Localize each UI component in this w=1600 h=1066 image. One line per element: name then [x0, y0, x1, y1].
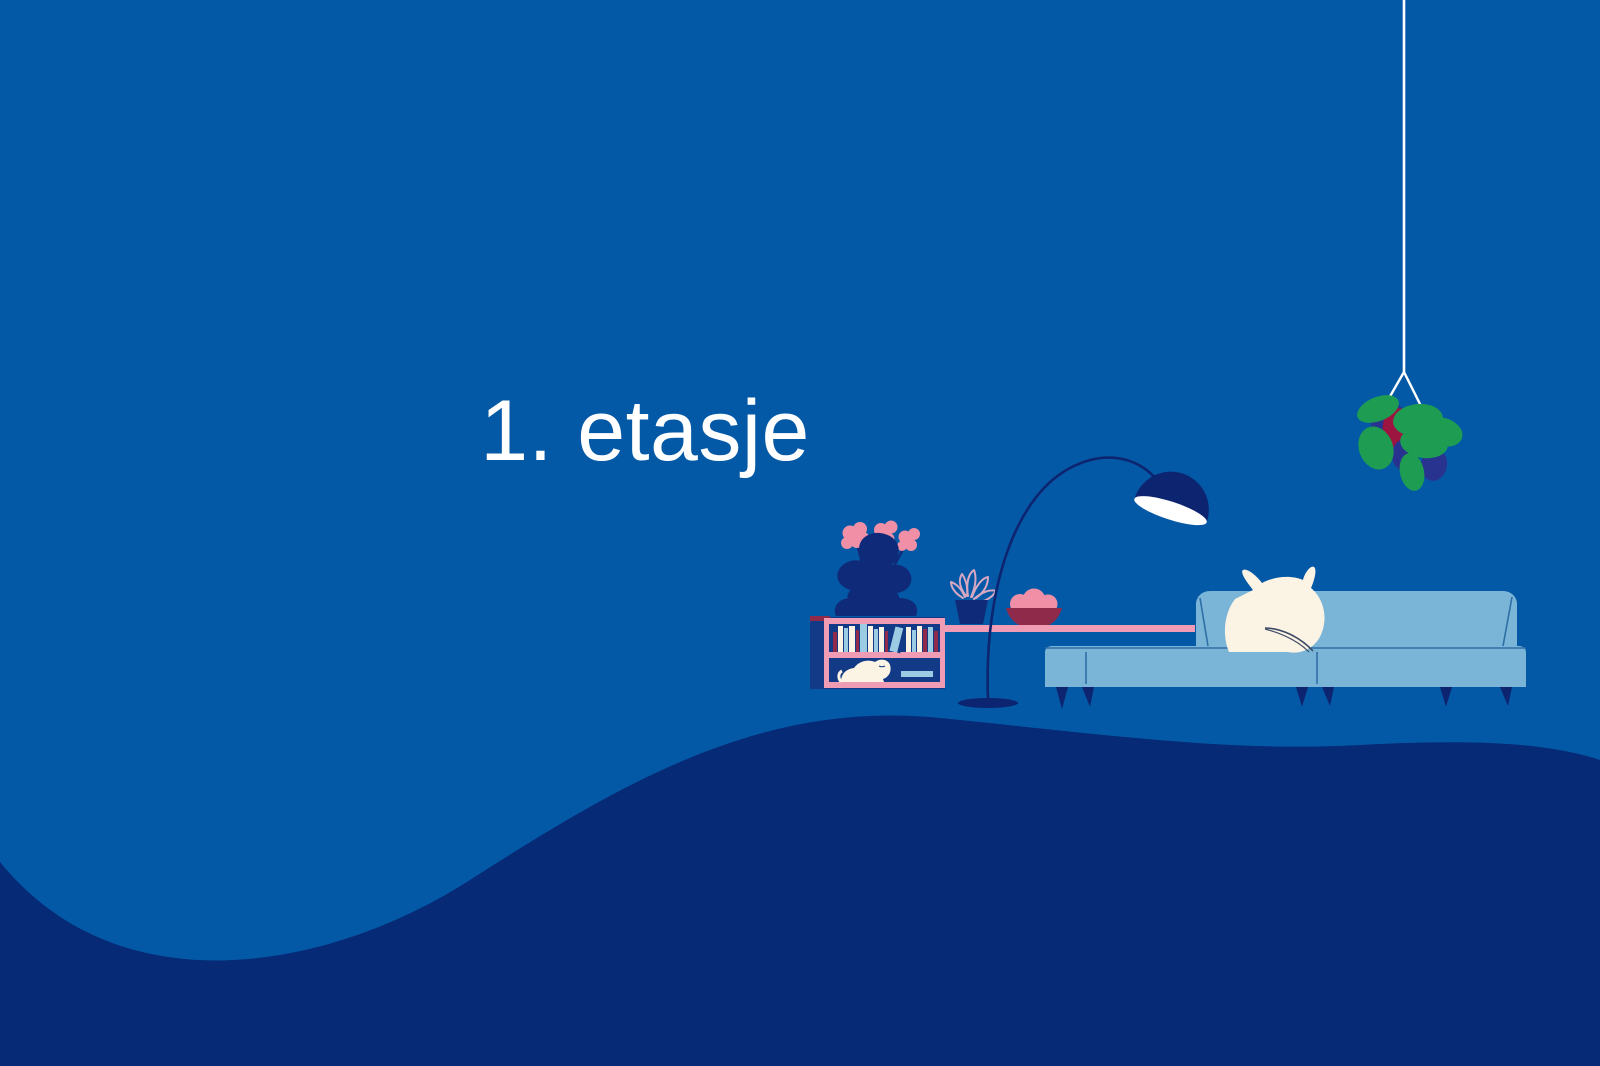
book: [923, 629, 927, 652]
book: [860, 624, 867, 652]
stacked-book-top: [901, 671, 933, 677]
book: [838, 626, 843, 652]
bookshelf-top-rail: [824, 618, 945, 624]
book: [912, 630, 916, 652]
bookshelf-right-post: [940, 618, 945, 688]
lamp-base: [958, 698, 1018, 708]
book: [844, 628, 848, 652]
book: [906, 627, 911, 652]
sofa-seat: [1045, 646, 1526, 687]
vase-lower-bulb: [835, 598, 917, 616]
book: [928, 627, 933, 652]
book: [856, 630, 859, 652]
stacked-books: [899, 671, 935, 682]
book: [885, 631, 888, 652]
book: [917, 626, 922, 652]
page-title: 1. etasje: [0, 388, 1445, 474]
book: [833, 632, 837, 652]
book: [874, 629, 878, 652]
bookshelf-middle-rail: [824, 652, 945, 658]
book: [934, 631, 938, 652]
stacked-book-bottom: [899, 677, 935, 682]
console-table: [905, 625, 1195, 632]
slide-canvas: 1. etasje: [0, 0, 1600, 1066]
bookshelf-left-post: [824, 618, 829, 688]
book: [879, 627, 884, 652]
bookshelf-bottom-rail: [824, 682, 945, 688]
book: [849, 626, 855, 652]
potted-plant-pot: [955, 600, 988, 624]
book: [868, 626, 873, 652]
bookshelf: [810, 616, 945, 689]
living-room-illustration: [0, 0, 1600, 1066]
sofa-left-arm: [1045, 652, 1085, 687]
